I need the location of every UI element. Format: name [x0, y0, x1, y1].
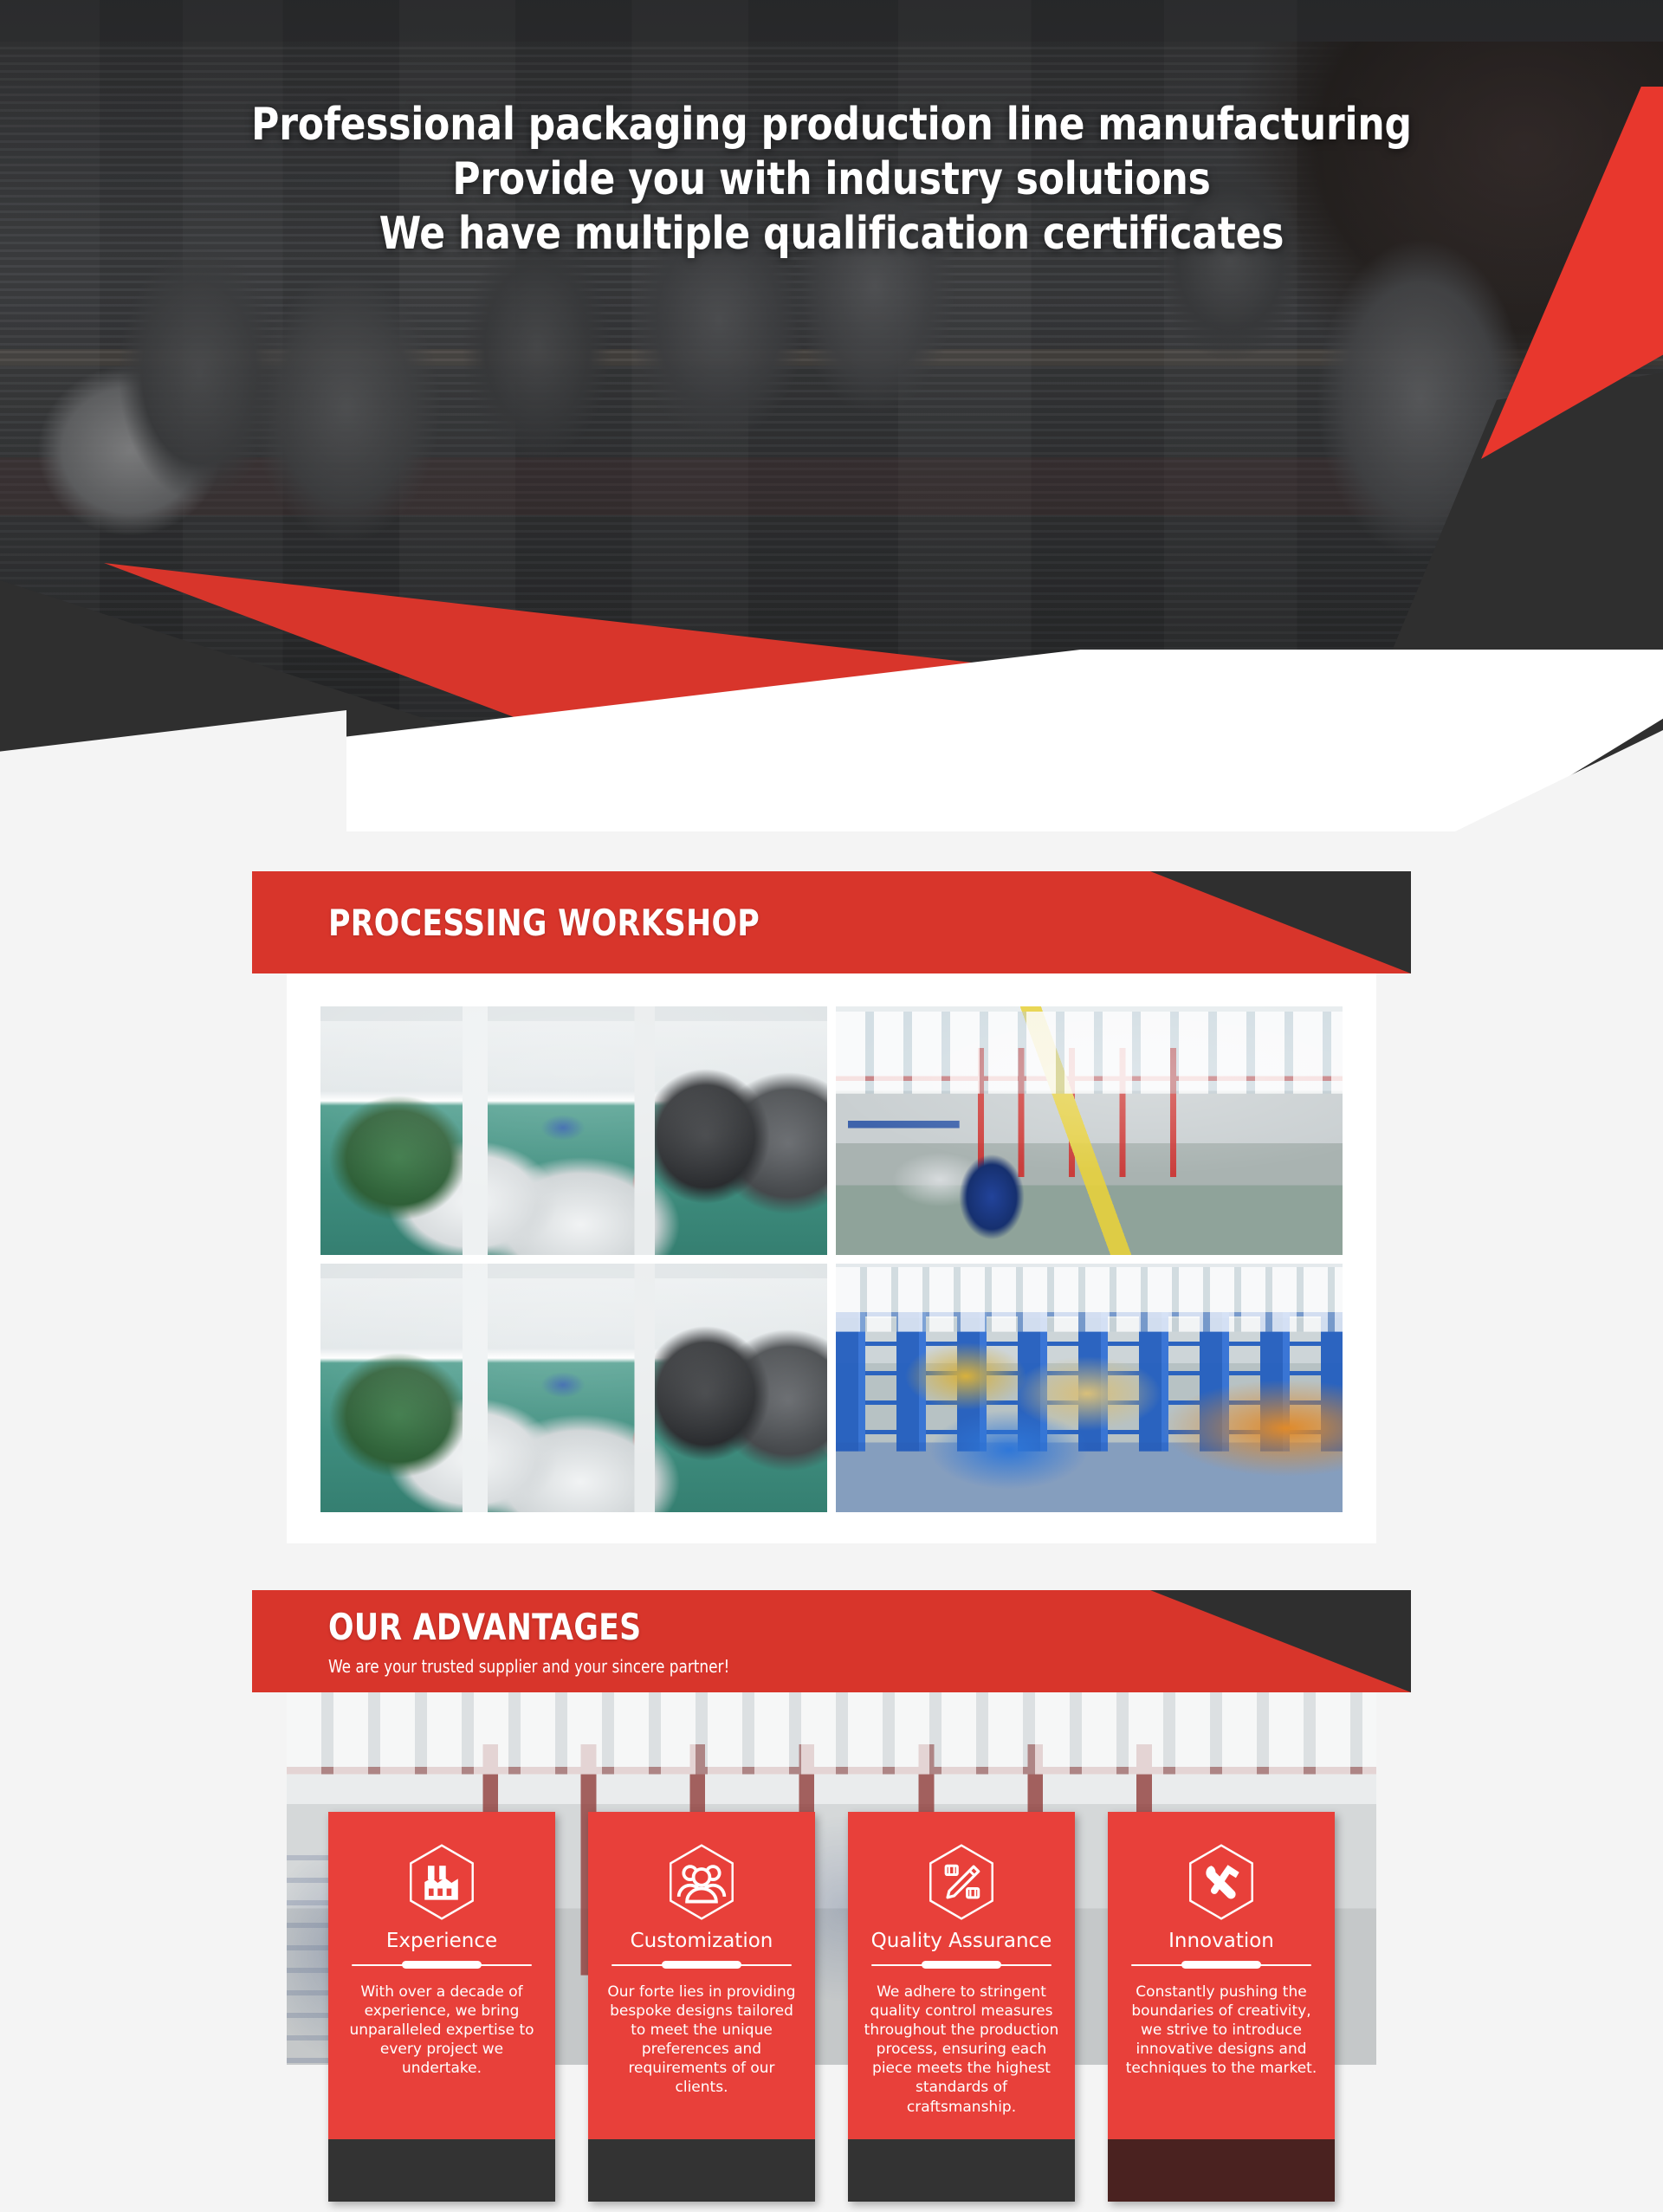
banner-text-group: PROCESSING WORKSHOP	[328, 871, 797, 973]
advantage-body-text: Constantly pushing the boundaries of cre…	[1123, 1982, 1319, 2139]
divider-thick-bar	[1181, 1961, 1261, 1969]
hero-banner: Professional packaging production line m…	[0, 0, 1663, 831]
pencil-ruler-icon	[921, 1841, 1002, 1923]
workshop-photo-cnc-machine-shop-2[interactable]	[320, 1264, 827, 1512]
advantage-divider	[871, 1961, 1052, 1969]
factory-icon	[401, 1841, 482, 1923]
advantage-divider	[611, 1961, 792, 1969]
hero-headline-line-1: Professional packaging production line m…	[50, 102, 1614, 147]
divider-thick-bar	[402, 1961, 482, 1969]
advantage-card-experience[interactable]: Experience With over a decade of experie…	[328, 1812, 555, 2202]
processing-workshop-title: PROCESSING WORKSHOP	[328, 902, 760, 944]
advantage-body-text: Our forte lies in providing bespoke desi…	[604, 1982, 799, 2139]
our-advantages-title: OUR ADVANTAGES	[328, 1606, 721, 1648]
our-advantages-section: OUR ADVANTAGES We are your trusted suppl…	[0, 1543, 1663, 2177]
workshop-photo-parts-warehouse[interactable]	[836, 1264, 1343, 1512]
advantage-title: Customization	[631, 1930, 773, 1952]
hammer-wrench-icon	[1181, 1841, 1262, 1923]
advantage-title: Innovation	[1168, 1930, 1274, 1952]
advantage-card-footer	[1108, 2139, 1335, 2202]
hero-headline-line-2: Provide you with industry solutions	[50, 157, 1614, 202]
processing-workshop-section: PROCESSING WORKSHOP	[0, 831, 1663, 1543]
advantage-card-quality-assurance[interactable]: Quality Assurance We adhere to stringent…	[848, 1812, 1075, 2202]
advantage-card-footer	[848, 2139, 1075, 2202]
our-advantages-subtitle: We are your trusted supplier and your si…	[328, 1656, 729, 1677]
advantage-card-innovation[interactable]: Innovation Constantly pushing the bounda…	[1108, 1812, 1335, 2202]
advantage-divider	[352, 1961, 532, 1969]
advantage-title: Experience	[386, 1930, 497, 1952]
workshop-photo-grid	[320, 1006, 1343, 1512]
workshop-photo-cnc-machine-shop-1[interactable]	[320, 1006, 827, 1255]
divider-thick-bar	[662, 1961, 741, 1969]
workshop-gallery-card	[287, 973, 1376, 1543]
advantage-title: Quality Assurance	[871, 1930, 1052, 1952]
divider-thick-bar	[922, 1961, 1001, 1969]
advantage-card-footer	[328, 2139, 555, 2202]
banner-text-group: OUR ADVANTAGES We are your trusted suppl…	[328, 1590, 755, 1692]
processing-workshop-banner: PROCESSING WORKSHOP	[252, 871, 1411, 973]
advantages-stage: Experience With over a decade of experie…	[287, 1692, 1376, 2177]
advantage-card-customization[interactable]: Customization Our forte lies in providin…	[588, 1812, 815, 2202]
hero-headline: Professional packaging production line m…	[0, 102, 1663, 266]
advantage-divider	[1131, 1961, 1311, 1969]
advantages-card-list: Experience With over a decade of experie…	[328, 1812, 1335, 2202]
advantage-body-text: With over a decade of experience, we bri…	[344, 1982, 540, 2139]
advantage-card-footer	[588, 2139, 815, 2202]
workshop-photo-assembly-line[interactable]	[836, 1006, 1343, 1255]
users-icon	[661, 1841, 742, 1923]
our-advantages-banner: OUR ADVANTAGES We are your trusted suppl…	[252, 1590, 1411, 1692]
hero-headline-line-3: We have multiple qualification certifica…	[50, 211, 1614, 256]
advantage-body-text: We adhere to stringent quality control m…	[864, 1982, 1059, 2139]
